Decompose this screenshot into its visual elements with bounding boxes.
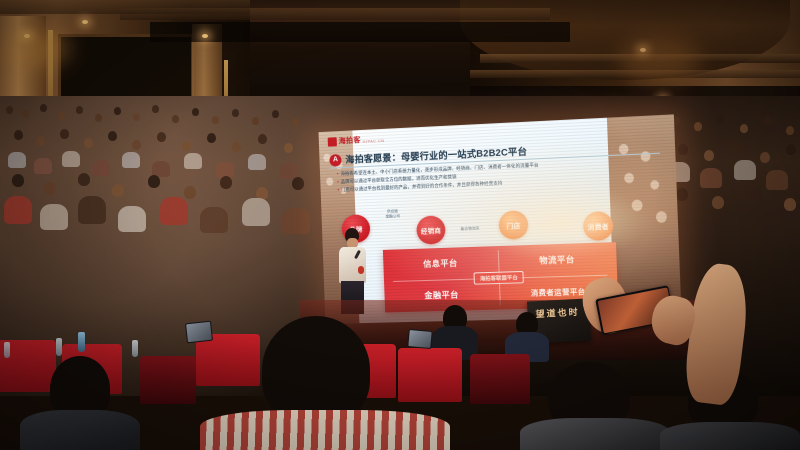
chain-node-distributor: 经销商 — [416, 215, 446, 244]
logo-cn-text: 海拍客 — [339, 135, 361, 146]
seat-back — [398, 348, 462, 402]
conference-photo-scene: 海拍客 HIPAC.CN A 海拍客愿景：母婴行业的一站式B2B2C平台 海拍客… — [0, 0, 800, 450]
quadrant-center-badge: 海拍客联盟平台 — [473, 271, 524, 285]
tablet-screen — [186, 322, 212, 342]
value-chain-diagram: 品牌 供应链 金融公司 经销商 聚合物流商 门店 消费者 — [335, 197, 665, 252]
tablet-device[interactable] — [407, 329, 432, 349]
tablet-device[interactable] — [185, 321, 213, 344]
section-badge: A — [329, 154, 341, 167]
water-bottle — [78, 332, 85, 352]
foreground-shirt — [660, 422, 800, 450]
foreground-shirt — [200, 410, 450, 450]
foreground-head — [262, 316, 370, 424]
logo-mark-icon — [328, 137, 337, 146]
water-bottle — [132, 340, 138, 357]
water-bottle — [4, 342, 10, 358]
hipac-logo: 海拍客 HIPAC.CN — [328, 134, 385, 147]
tablet-screen — [408, 330, 431, 348]
seat-back — [196, 334, 260, 386]
chain-node-consumer: 消费者 — [583, 211, 614, 241]
seat-back — [140, 356, 196, 404]
seat-back — [470, 354, 530, 404]
ceiling-light — [82, 20, 88, 24]
ceiling-light — [202, 34, 208, 38]
chain-node-store: 门店 — [498, 210, 528, 240]
logo-en-text: HIPAC.CN — [363, 139, 385, 144]
chain-label-finance: 供应链 金融公司 — [375, 209, 410, 220]
foreground-shirt — [20, 410, 140, 450]
water-bottle — [56, 338, 62, 356]
foreground-shirt — [520, 418, 670, 450]
foreground-row — [0, 300, 800, 450]
chain-label-logistics: 聚合物流商 — [449, 226, 490, 232]
